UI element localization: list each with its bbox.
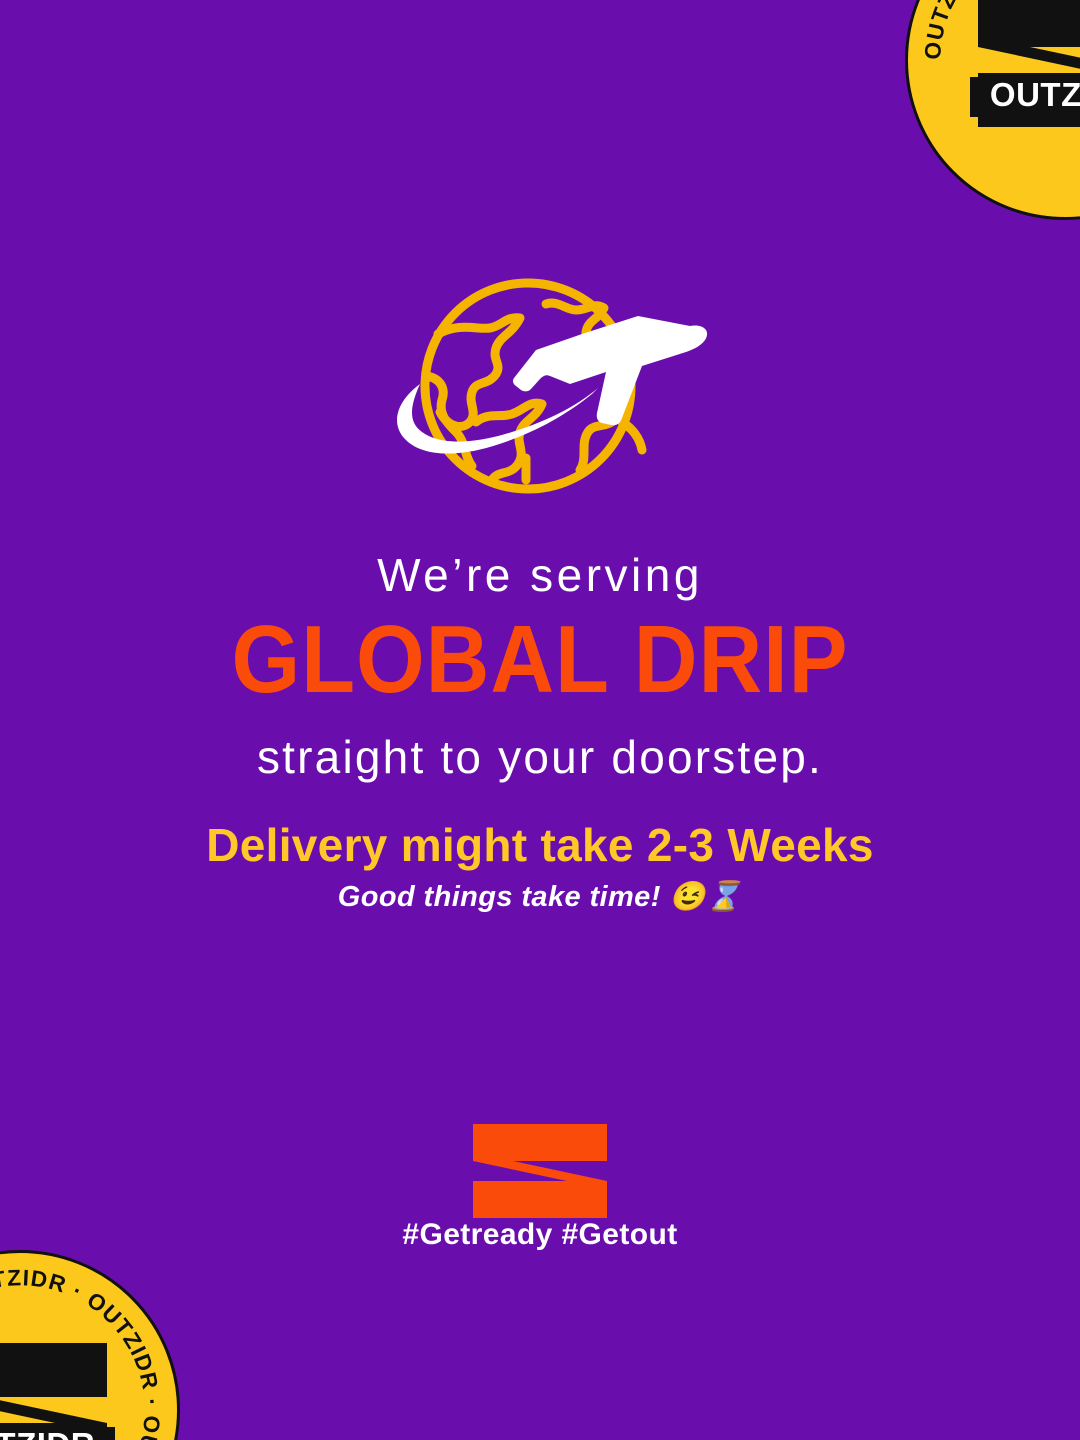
footer-hashtags: #Getready #Getout xyxy=(0,1218,1080,1252)
delivery-time-subnote: Good things take time! 😉⌛ xyxy=(0,882,1080,914)
z-mark-with-wordmark-icon: OUTZIDR xyxy=(970,0,1080,135)
z-logo-shape xyxy=(473,1124,607,1218)
headline-post-text: straight to your doorstep. xyxy=(0,734,1080,780)
z-logo-mark-icon xyxy=(473,1124,607,1218)
z-mark-with-wordmark-icon: OUTZIDR xyxy=(0,1335,115,1440)
headline-block: We’re serving GLOBAL DRIP straight to yo… xyxy=(0,552,1080,780)
delivery-time-note: Delivery might take 2-3 Weeks xyxy=(0,822,1080,868)
globe-airplane-illustration xyxy=(360,272,720,512)
badge-core-logo-top-right: OUTZIDR xyxy=(970,0,1080,135)
footer-z-logo xyxy=(473,1124,607,1218)
illustration-canvas xyxy=(360,272,720,512)
brand-badge-top-right: OUTZIDR · OUTZIDR · OUTZIDR · OUTZIDR · … xyxy=(905,0,1080,220)
brand-badge-bottom-left: OUTZIDR · OUTZIDR · OUTZIDR · OUTZIDR · … xyxy=(0,1250,180,1440)
headline-pre-text: We’re serving xyxy=(0,552,1080,598)
headline-main-text: GLOBAL DRIP xyxy=(43,612,1037,708)
badge-core-wordmark: OUTZIDR xyxy=(0,1426,95,1440)
badge-core-wordmark: OUTZIDR xyxy=(990,76,1080,113)
badge-core-logo-bottom-left: OUTZIDR xyxy=(0,1335,115,1440)
